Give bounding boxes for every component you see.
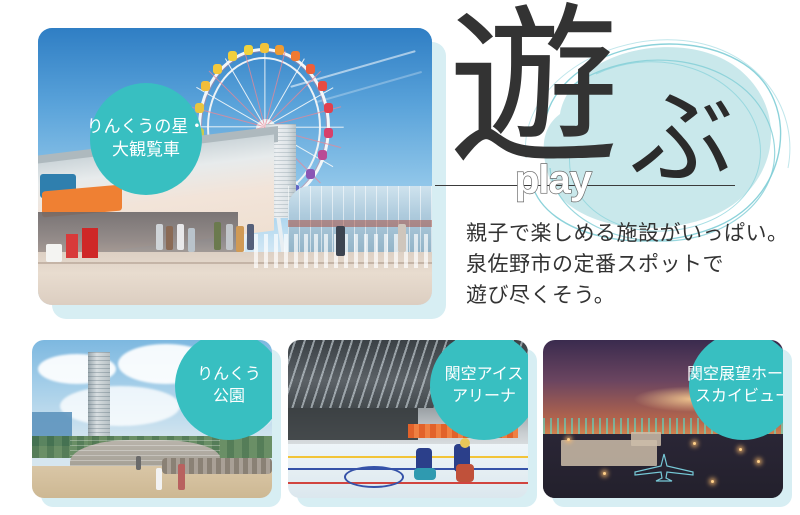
visitor [188, 228, 195, 252]
mascot-character [460, 438, 470, 448]
visitor [214, 222, 221, 250]
visitor [336, 226, 345, 256]
hero-badge-line-1: りんくうの星・ [87, 116, 206, 139]
hero-card[interactable]: りんくうの星・ 大観覧車 [38, 28, 432, 305]
page-root: りんくうの星・ 大観覧車 遊 ぶ play 親子で楽しめる施設がいっぱい。 泉佐… [0, 0, 800, 515]
white-signboard [46, 244, 62, 262]
mascot-character [414, 468, 436, 480]
hero-badge-line-2: 大観覧車 [112, 139, 180, 162]
thumbnail-photo[interactable]: 関空展望ホール スカイビュー [543, 340, 783, 498]
hero-photo-ferris-wheel[interactable]: りんくうの星・ 大観覧車 [38, 28, 432, 305]
thumbnail-badge-line-1: りんくう [197, 364, 261, 386]
lede-line-3: 遊び尽くそう。 [466, 280, 796, 311]
cloud [60, 386, 180, 426]
apron-light [739, 448, 742, 451]
thumbnail-badge-line-2: スカイビュー [695, 386, 783, 408]
thumbnail-card-ice-arena[interactable]: 関空アイス アリーナ [288, 340, 528, 498]
mascot-character [456, 464, 474, 482]
thumbnail-photo[interactable]: りんくう 公園 [32, 340, 272, 498]
visitor [247, 224, 254, 250]
apron-light [757, 460, 760, 463]
thumbnail-card-sky-view[interactable]: 関空展望ホール スカイビュー [543, 340, 783, 498]
thumbnail-photo[interactable]: 関空アイス アリーナ [288, 340, 528, 498]
visitor [136, 456, 141, 470]
rink-line [288, 456, 528, 458]
rink-line [288, 482, 528, 484]
terminal-building [631, 432, 661, 446]
ice-rink [288, 444, 528, 498]
apron-light [603, 472, 606, 475]
title-block: 遊 ぶ play [440, 10, 800, 210]
thumbnail-badge-line-2: アリーナ [452, 386, 516, 408]
arena-dark-panels [288, 408, 418, 440]
visitor [177, 224, 184, 250]
lede-line-1: 親子で楽しめる施設がいっぱい。 [466, 218, 796, 249]
thumbnail-badge-line-1: 関空展望ホール [687, 364, 783, 386]
red-signboard [82, 228, 98, 258]
lede-line-2: 泉佐野市の定番スポットで [466, 249, 796, 280]
title-kana: ぶ [630, 88, 734, 192]
aircraft-outline [631, 452, 697, 482]
visitor [166, 226, 173, 250]
red-signboard [66, 234, 78, 258]
thumbnail-badge-line-1: 関空アイス [445, 364, 524, 386]
thumbnail-badge-line-2: 公園 [213, 386, 245, 408]
thumbnail-card-rinku-park[interactable]: りんくう 公園 [32, 340, 272, 498]
visitor [156, 468, 162, 490]
visitor [156, 224, 163, 250]
visitor [226, 224, 233, 250]
rink-faceoff-circle [344, 466, 404, 488]
visitor [398, 224, 406, 252]
rink-line [288, 468, 528, 470]
apron-light [711, 480, 714, 483]
lede-text: 親子で楽しめる施設がいっぱい。 泉佐野市の定番スポットで 遊び尽くそう。 [466, 218, 796, 311]
title-romaji: play [515, 160, 591, 200]
apron-light [567, 438, 570, 441]
visitor [236, 226, 244, 252]
hero-badge[interactable]: りんくうの星・ 大観覧車 [90, 83, 202, 195]
visitor [178, 464, 185, 490]
apron-light [693, 442, 696, 445]
title-kanji: 遊 [448, 4, 616, 176]
